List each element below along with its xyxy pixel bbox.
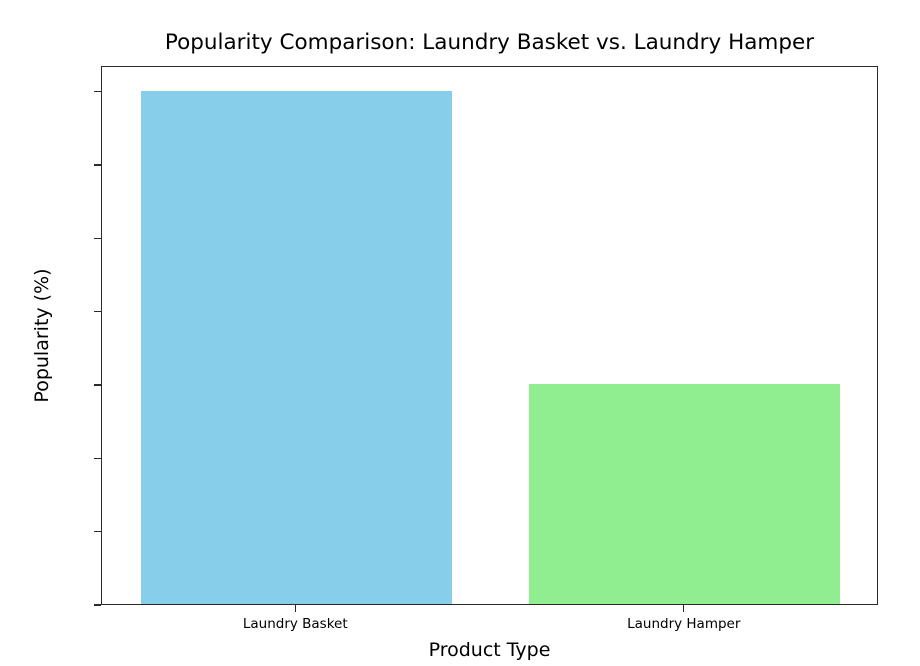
plot-area <box>101 66 878 605</box>
x-tick-label: Laundry Basket <box>145 615 445 633</box>
y-tick-mark <box>94 384 101 385</box>
bars-layer <box>102 67 877 604</box>
y-tick-mark <box>94 238 101 239</box>
x-tick-mark <box>295 605 296 612</box>
bar-laundry-basket[interactable] <box>141 91 452 604</box>
y-tick-mark <box>94 164 101 165</box>
chart-figure: Popularity Comparison: Laundry Basket vs… <box>0 0 920 666</box>
x-tick-label: Laundry Hamper <box>534 615 834 633</box>
y-tick-mark <box>94 531 101 532</box>
y-tick-mark <box>94 311 101 312</box>
y-tick-mark <box>94 458 101 459</box>
y-axis-title: Popularity (%) <box>27 66 57 605</box>
x-tick-mark <box>683 605 684 612</box>
y-tick-mark <box>94 91 101 92</box>
y-tick-mark <box>94 604 101 605</box>
chart-title: Popularity Comparison: Laundry Basket vs… <box>101 30 878 56</box>
x-axis-title: Product Type <box>101 638 878 662</box>
bar-laundry-hamper[interactable] <box>529 384 840 604</box>
